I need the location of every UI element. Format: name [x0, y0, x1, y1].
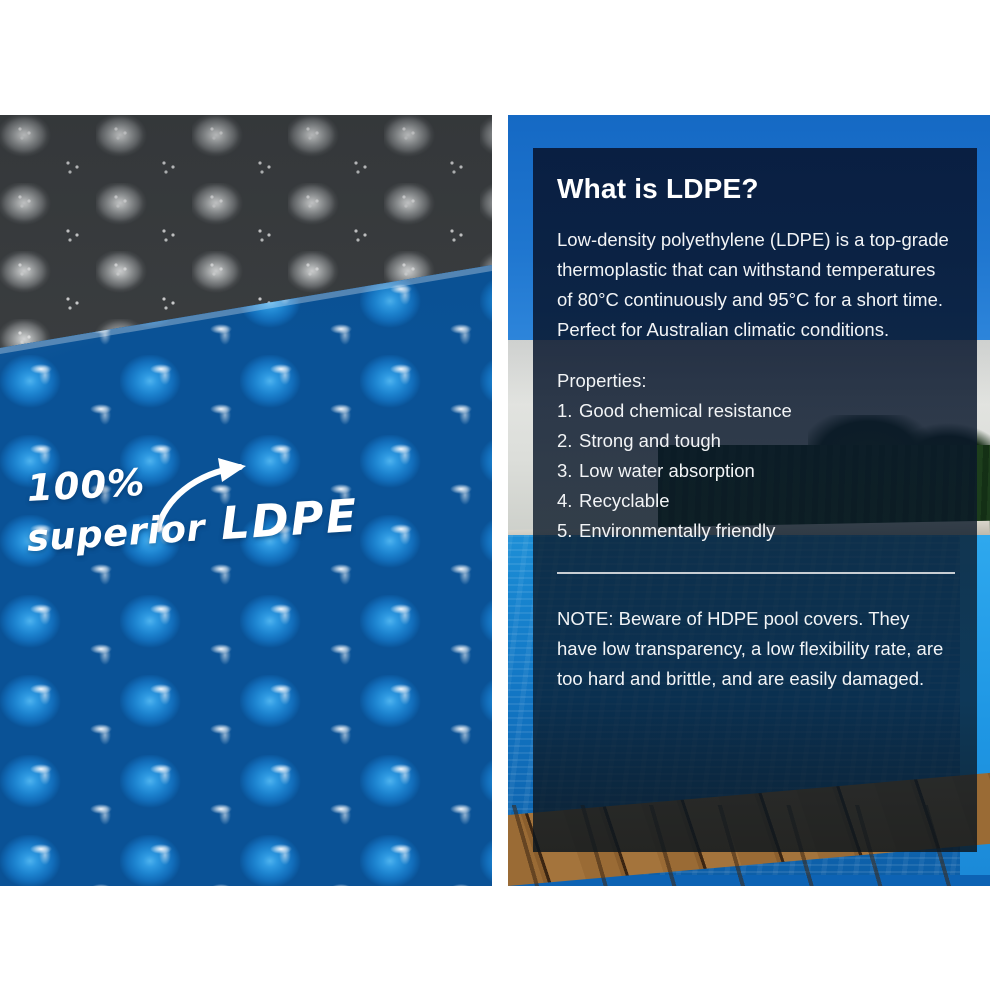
list-item-number: 4. — [557, 486, 576, 516]
list-item: 4. Recyclable — [557, 486, 953, 516]
list-item: 5. Environmentally friendly — [557, 516, 953, 546]
list-item: 2. Strong and tough — [557, 426, 953, 456]
list-item: 1. Good chemical resistance — [557, 396, 953, 426]
card-body-text: Low-density polyethylene (LDPE) is a top… — [557, 225, 953, 345]
properties-label: Properties: — [557, 367, 953, 395]
list-item-label: Good chemical resistance — [579, 396, 792, 426]
list-item-number: 1. — [557, 396, 576, 426]
list-item-label: Strong and tough — [579, 426, 721, 456]
list-item: 3. Low water absorption — [557, 456, 953, 486]
card-divider — [557, 572, 955, 574]
card-note-text: NOTE: Beware of HDPE pool covers. They h… — [557, 604, 953, 694]
ldpe-info-card: What is LDPE? Low-density polyethylene (… — [533, 148, 977, 852]
list-item-number: 5. — [557, 516, 576, 546]
list-item-label: Recyclable — [579, 486, 670, 516]
list-item-label: Environmentally friendly — [579, 516, 775, 546]
properties-list: 1. Good chemical resistance 2. Strong an… — [557, 396, 953, 546]
card-title: What is LDPE? — [557, 174, 953, 205]
pool-scene-panel: What is LDPE? Low-density polyethylene (… — [508, 115, 990, 886]
infographic-canvas: 100% superiorLDPE What is LDPE? Low-dens… — [0, 0, 1000, 1000]
list-item-number: 2. — [557, 426, 576, 456]
list-item-label: Low water absorption — [579, 456, 755, 486]
product-photo-panel: 100% superiorLDPE — [0, 115, 492, 886]
list-item-number: 3. — [557, 456, 576, 486]
